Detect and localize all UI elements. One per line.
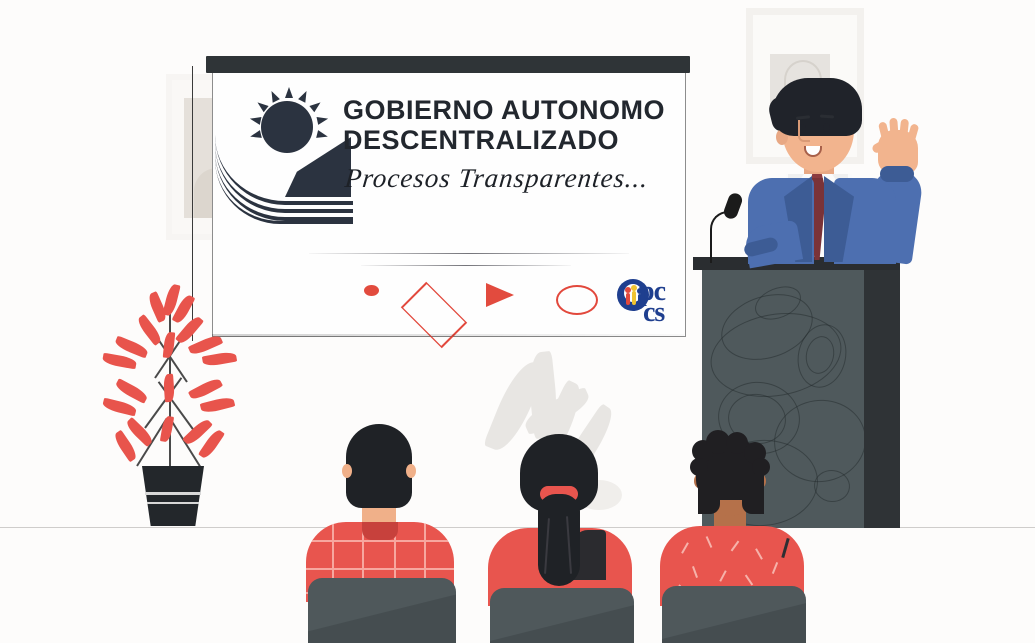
slide-divider-line	[309, 253, 629, 254]
thumb	[871, 139, 889, 155]
presentation-scene: GOBIERNO AUTONOMO DESCENTRALIZADO Proces…	[0, 0, 1035, 643]
audience-chair[interactable]	[490, 588, 634, 643]
field-line-icon	[215, 159, 353, 224]
plant-leaf	[188, 376, 223, 402]
plant-leaf	[163, 374, 175, 403]
plant-leaf	[200, 396, 236, 415]
audience-sideburn	[742, 474, 764, 514]
presenter-sleeve-cuff	[880, 166, 914, 182]
cpccs-logo-text-bottom: cs	[643, 297, 664, 329]
slide-divider-line	[361, 265, 571, 266]
projector-screen[interactable]: GOBIERNO AUTONOMO DESCENTRALIZADO Proces…	[206, 56, 690, 336]
finger	[878, 121, 890, 140]
slide-tagline: Procesos Transparentes...	[343, 163, 676, 194]
audience-chair[interactable]	[662, 586, 806, 643]
plant-pot	[142, 466, 204, 526]
finger	[889, 118, 899, 141]
plant-leaf	[202, 351, 237, 368]
podium-side-panel	[864, 270, 900, 528]
plant-leaf	[163, 332, 176, 359]
cpccs-figure-yellow	[632, 291, 636, 305]
projector-screen-roller	[206, 56, 690, 73]
red-ellipse-outline-shape	[556, 285, 598, 315]
potted-plant	[96, 270, 246, 532]
slide-canvas[interactable]: GOBIERNO AUTONOMO DESCENTRALIZADO Proces…	[212, 73, 686, 337]
presenter-at-podium[interactable]	[742, 74, 957, 264]
presenter-eye	[823, 123, 830, 132]
plant-pot-stripe	[147, 502, 199, 504]
plant-leaf	[114, 378, 149, 404]
audience-ear	[406, 464, 416, 478]
screen-bottom-shadow	[212, 334, 684, 337]
finger	[907, 123, 920, 143]
sun-over-hills-logo	[229, 89, 345, 197]
cpccs-logo: pc cs	[617, 277, 681, 333]
red-dot-shape	[364, 285, 379, 296]
slide-title-line-2: DESCENTRALIZADO	[343, 125, 673, 155]
audience-sideburn	[698, 474, 720, 514]
audience-ear	[342, 464, 352, 478]
audience-hair	[346, 424, 412, 508]
audience-member-right[interactable]	[652, 430, 852, 643]
plant-leaf	[102, 398, 138, 417]
presenter-hair	[772, 78, 862, 136]
red-triangle-shape	[486, 283, 514, 307]
plant-pot-stripe	[145, 492, 201, 495]
audience-member-left[interactable]	[300, 418, 500, 643]
chair-shading	[308, 578, 456, 643]
cpccs-figure-red	[626, 293, 630, 305]
audience-member-middle[interactable]	[480, 430, 680, 643]
chair-shading	[490, 588, 634, 643]
presenter-nose	[798, 120, 810, 142]
slide-organization-title: GOBIERNO AUTONOMO DESCENTRALIZADO	[343, 95, 673, 155]
plant-leaf	[102, 353, 137, 370]
plant-leaf	[160, 415, 174, 442]
slide-title-line-1: GOBIERNO AUTONOMO	[343, 95, 673, 125]
chair-shading	[662, 586, 806, 643]
microphone-head-icon	[722, 191, 744, 220]
audience-chair[interactable]	[308, 578, 456, 643]
